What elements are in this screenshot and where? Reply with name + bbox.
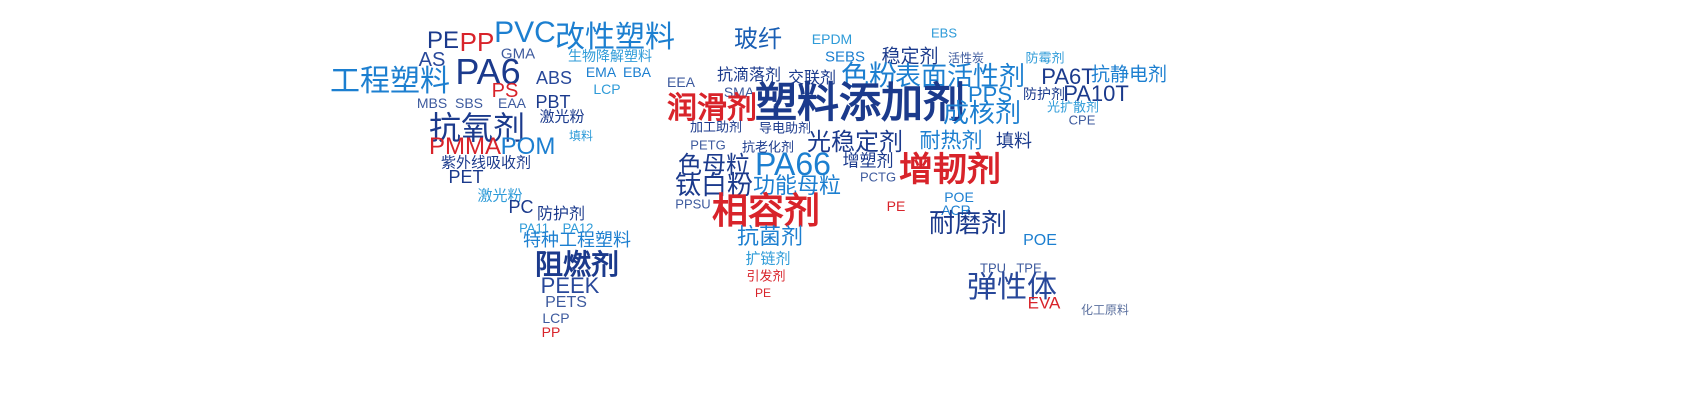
- word-cloud-term[interactable]: 增塑剂: [843, 154, 894, 171]
- word-cloud-term[interactable]: PET: [448, 168, 483, 186]
- word-cloud-term[interactable]: EBA: [623, 65, 651, 79]
- word-cloud-term[interactable]: EAA: [498, 96, 526, 110]
- word-cloud-term[interactable]: EVA: [1028, 295, 1061, 312]
- word-cloud-term[interactable]: PC: [508, 198, 533, 216]
- word-cloud-term[interactable]: PCTG: [860, 171, 896, 184]
- word-cloud-term[interactable]: PETG: [690, 139, 725, 152]
- word-cloud-term[interactable]: SBS: [455, 96, 483, 110]
- word-cloud-term[interactable]: EPDM: [812, 32, 852, 46]
- word-cloud-term[interactable]: PE: [887, 199, 906, 213]
- word-cloud-term[interactable]: 工程塑料: [330, 67, 450, 97]
- word-cloud-term[interactable]: PPSU: [675, 198, 710, 211]
- word-cloud-term[interactable]: 激光粉: [539, 110, 584, 125]
- word-cloud-term[interactable]: 填料: [569, 130, 593, 142]
- word-cloud-term[interactable]: PETS: [545, 295, 587, 311]
- word-cloud-term[interactable]: 扩链剂: [745, 252, 790, 267]
- word-cloud-term[interactable]: 耐磨剂: [929, 211, 1007, 237]
- word-cloud-term[interactable]: CPE: [1069, 114, 1096, 127]
- word-cloud-term[interactable]: PE: [755, 287, 771, 299]
- word-cloud-term[interactable]: 玻纤: [734, 27, 782, 51]
- word-cloud-term[interactable]: 导电助剂: [759, 123, 811, 136]
- word-cloud-term[interactable]: 填料: [996, 133, 1032, 151]
- word-cloud-term[interactable]: 增韧剂: [899, 153, 1001, 187]
- word-cloud-term[interactable]: 化工原料: [1081, 304, 1129, 316]
- word-cloud-term[interactable]: 引发剂: [746, 271, 785, 284]
- word-cloud-term[interactable]: EEA: [667, 75, 695, 89]
- word-cloud-term[interactable]: POE: [1023, 233, 1057, 249]
- word-cloud-term[interactable]: PVC: [494, 18, 556, 48]
- word-cloud-term[interactable]: 加工助剂: [690, 122, 742, 135]
- word-cloud-term[interactable]: 耐热剂: [920, 131, 983, 152]
- word-cloud-term[interactable]: 成核剂: [943, 101, 1021, 127]
- word-cloud-term[interactable]: MBS: [417, 96, 447, 110]
- word-cloud-term[interactable]: EBS: [931, 27, 957, 40]
- word-cloud-term[interactable]: ABS: [536, 69, 572, 87]
- word-cloud-term[interactable]: 生物降解塑料: [568, 50, 652, 64]
- word-cloud-term[interactable]: LCP: [542, 311, 569, 325]
- word-cloud-term[interactable]: 润滑剂: [667, 94, 757, 124]
- word-cloud-term[interactable]: LCP: [593, 82, 620, 96]
- word-cloud-term[interactable]: 抗菌剂: [737, 227, 803, 249]
- word-cloud-term[interactable]: 塑料添加剂: [755, 82, 965, 124]
- word-cloud-term[interactable]: EMA: [586, 65, 616, 79]
- word-cloud: PEPPPVCGMA改性塑料玻纤EPDMEBSAS生物降解塑料SEBS稳定剂活性…: [0, 0, 1707, 400]
- word-cloud-term[interactable]: PP: [542, 325, 561, 339]
